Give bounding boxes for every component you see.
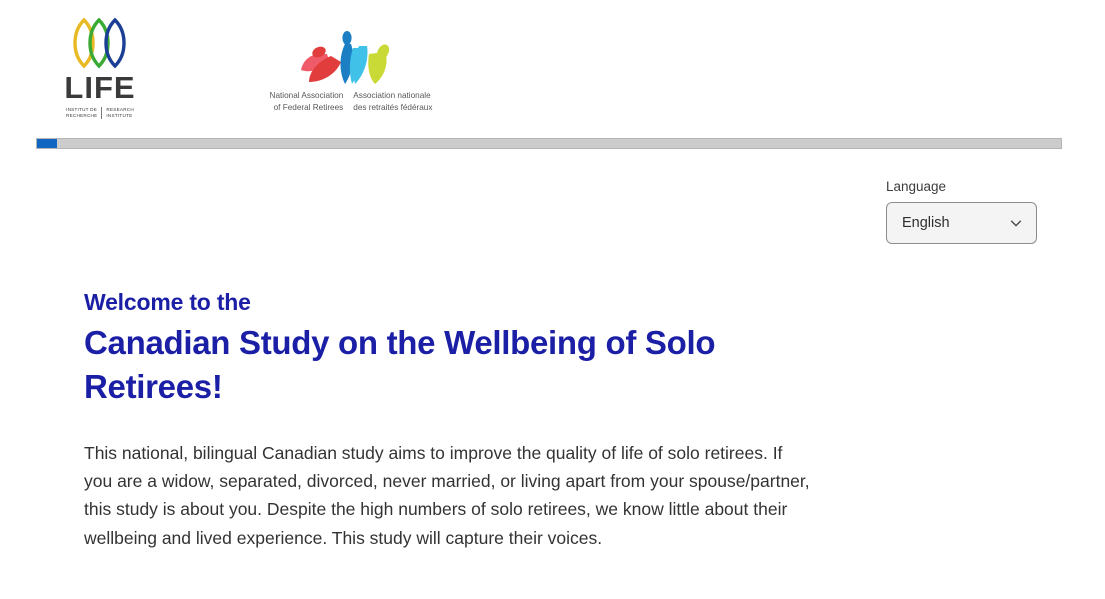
page-title: Canadian Study on the Wellbeing of Solo … xyxy=(84,321,724,409)
intro-paragraph: This national, bilingual Canadian study … xyxy=(84,439,814,552)
page-header: LIFE INSTITUT DE RECHERCHE RESEARCH INST… xyxy=(0,0,1105,132)
life-subtitle-fr: INSTITUT DE RECHERCHE xyxy=(66,107,97,119)
national-association-of-federal-retirees-logo: National Association of Federal Retirees… xyxy=(258,26,444,110)
welcome-line: Welcome to the xyxy=(84,288,824,317)
life-subtitle-en: RESEARCH INSTITUTE xyxy=(106,107,134,119)
survey-progress-fill xyxy=(37,139,57,148)
nafr-splash-icon xyxy=(297,26,405,88)
language-select[interactable]: English xyxy=(886,202,1037,244)
life-subtitle: INSTITUT DE RECHERCHE RESEARCH INSTITUTE xyxy=(62,107,138,119)
life-subtitle-divider xyxy=(101,107,102,119)
chevron-down-icon xyxy=(1009,216,1023,230)
nafr-captions: National Association of Federal Retirees… xyxy=(258,90,444,114)
language-selector: Language English xyxy=(886,178,1037,244)
life-wordmark: LIFE xyxy=(62,72,138,103)
life-research-institute-logo: LIFE INSTITUT DE RECHERCHE RESEARCH INST… xyxy=(62,16,138,114)
nafr-caption-fr: Association nationale des retraités fédé… xyxy=(353,90,432,114)
language-label: Language xyxy=(886,178,1037,196)
nafr-caption-en: National Association of Federal Retirees xyxy=(270,90,344,114)
survey-progress-bar xyxy=(36,138,1062,149)
life-leaves-icon xyxy=(64,16,136,70)
language-selected-value: English xyxy=(902,215,950,231)
main-content: Welcome to the Canadian Study on the Wel… xyxy=(84,288,824,552)
